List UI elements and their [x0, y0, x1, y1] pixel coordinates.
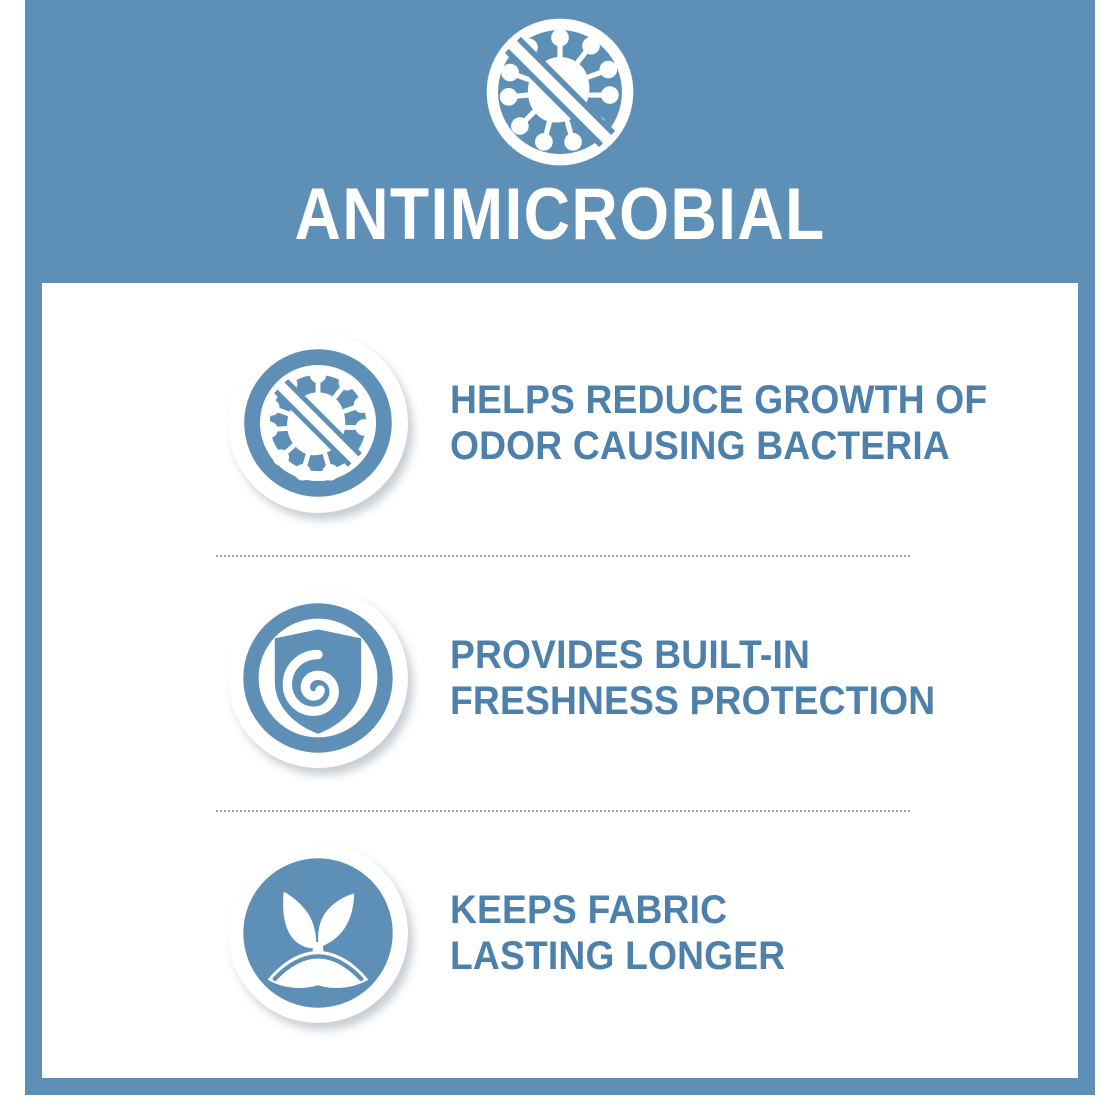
row-divider	[216, 810, 910, 812]
row-divider	[216, 555, 910, 557]
header-band: ANTIMICROBIAL	[25, 0, 1095, 283]
no-germ-badge-icon	[228, 333, 408, 513]
antimicrobial-infographic: ANTIMICROBIAL	[0, 0, 1120, 1120]
feature-line-2: FRESHNESS PROTECTION	[450, 678, 935, 724]
feature-row: KEEPS FABRIC LASTING LONGER	[42, 823, 1078, 1043]
feature-row: HELPS REDUCE GROWTH OF ODOR CAUSING BACT…	[42, 313, 1078, 533]
shield-swirl-badge-icon	[228, 588, 408, 768]
feature-line-1: PROVIDES BUILT-IN	[450, 632, 935, 678]
feature-line-1: KEEPS FABRIC	[450, 887, 785, 933]
feature-line-2: LASTING LONGER	[450, 933, 785, 979]
badge-wrapper	[228, 843, 408, 1023]
no-germ-icon	[484, 16, 636, 168]
feature-list: HELPS REDUCE GROWTH OF ODOR CAUSING BACT…	[42, 283, 1078, 1078]
feature-line-1: HELPS REDUCE GROWTH OF	[450, 377, 987, 423]
badge-wrapper	[228, 333, 408, 513]
feature-line-2: ODOR CAUSING BACTERIA	[450, 423, 987, 469]
feature-text: HELPS REDUCE GROWTH OF ODOR CAUSING BACT…	[450, 377, 987, 470]
feature-row: PROVIDES BUILT-IN FRESHNESS PROTECTION	[42, 568, 1078, 788]
leaf-sprout-badge-icon	[228, 843, 408, 1023]
feature-text: KEEPS FABRIC LASTING LONGER	[450, 887, 785, 980]
badge-wrapper	[228, 588, 408, 768]
feature-text: PROVIDES BUILT-IN FRESHNESS PROTECTION	[450, 632, 935, 725]
page-title: ANTIMICROBIAL	[89, 178, 1031, 251]
